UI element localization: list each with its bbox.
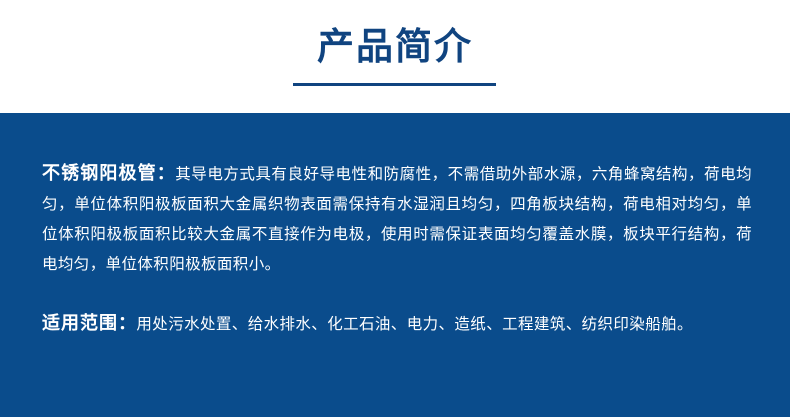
title-underline [293, 83, 496, 86]
content-body: 不锈钢阳极管：其导电方式具有良好导电性和防腐性，不需借助外部水源，六角蜂窝结构，… [42, 143, 752, 354]
product-intro-page: 产品简介 不锈钢阳极管：其导电方式具有良好导电性和防腐性，不需借助外部水源，六角… [0, 0, 790, 417]
section-lead-label: 不锈钢阳极管 [42, 163, 157, 184]
section-lead-colon: ： [157, 163, 176, 184]
page-title: 产品简介 [0, 25, 790, 69]
section-body-text: 用处污水处置、给水排水、化工石油、电力、造纸、工程建筑、纺织印染船舶。 [136, 315, 693, 333]
section-paragraph: 适用范围：用处污水处置、给水排水、化工石油、电力、造纸、工程建筑、纺织印染船舶。 [42, 309, 752, 339]
section-lead-label: 适用范围 [42, 313, 118, 334]
content-band: 不锈钢阳极管：其导电方式具有良好导电性和防腐性，不需借助外部水源，六角蜂窝结构，… [0, 113, 790, 417]
section-paragraph: 不锈钢阳极管：其导电方式具有良好导电性和防腐性，不需借助外部水源，六角蜂窝结构，… [42, 159, 752, 279]
page-header: 产品简介 [0, 0, 790, 113]
section-lead-colon: ： [118, 313, 136, 334]
